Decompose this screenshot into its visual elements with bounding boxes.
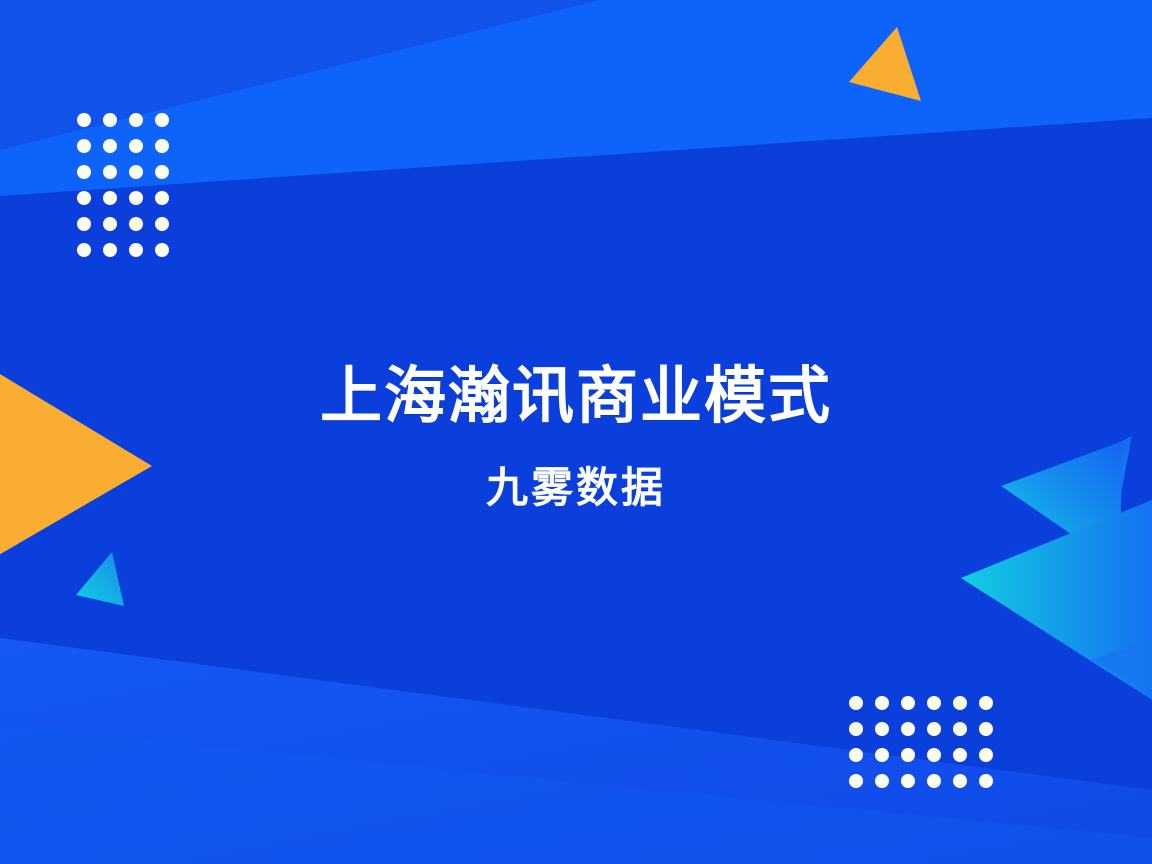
dot (155, 243, 169, 257)
dot (77, 113, 91, 127)
dot (849, 696, 863, 710)
dot (103, 165, 117, 179)
dot (979, 774, 993, 788)
dot (155, 165, 169, 179)
dot (875, 748, 889, 762)
page-title: 上海瀚讯商业模式 (0, 362, 1152, 431)
dot (129, 191, 143, 205)
page-subtitle: 九雾数据 (0, 431, 1152, 511)
dot (103, 191, 117, 205)
dot (155, 139, 169, 153)
dot (103, 113, 117, 127)
dot (979, 722, 993, 736)
dot (901, 748, 915, 762)
dot (129, 113, 143, 127)
dot (129, 243, 143, 257)
dot (129, 139, 143, 153)
dot (77, 165, 91, 179)
dot (979, 748, 993, 762)
dot (103, 217, 117, 231)
dot (927, 748, 941, 762)
dot (103, 139, 117, 153)
dot (103, 243, 117, 257)
dot (129, 165, 143, 179)
dot (849, 748, 863, 762)
presentation-slide: 上海瀚讯商业模式 九雾数据 (0, 0, 1152, 864)
dot (927, 722, 941, 736)
dot (927, 696, 941, 710)
dot (901, 696, 915, 710)
dot (77, 243, 91, 257)
dot (979, 696, 993, 710)
dot-grid-bottom-right (849, 696, 993, 788)
dot-grid-top-left (77, 113, 169, 257)
dot (901, 774, 915, 788)
dot (875, 774, 889, 788)
dot (77, 139, 91, 153)
dot (901, 722, 915, 736)
dot (849, 774, 863, 788)
dot (875, 696, 889, 710)
dot (77, 217, 91, 231)
dot (953, 774, 967, 788)
dot (953, 748, 967, 762)
dot (875, 722, 889, 736)
dot (155, 113, 169, 127)
dot (953, 696, 967, 710)
dot (849, 722, 863, 736)
dot (927, 774, 941, 788)
title-block: 上海瀚讯商业模式 九雾数据 (0, 362, 1152, 512)
dot (953, 722, 967, 736)
dot (77, 191, 91, 205)
dot (155, 191, 169, 205)
dot (155, 217, 169, 231)
dot (129, 217, 143, 231)
